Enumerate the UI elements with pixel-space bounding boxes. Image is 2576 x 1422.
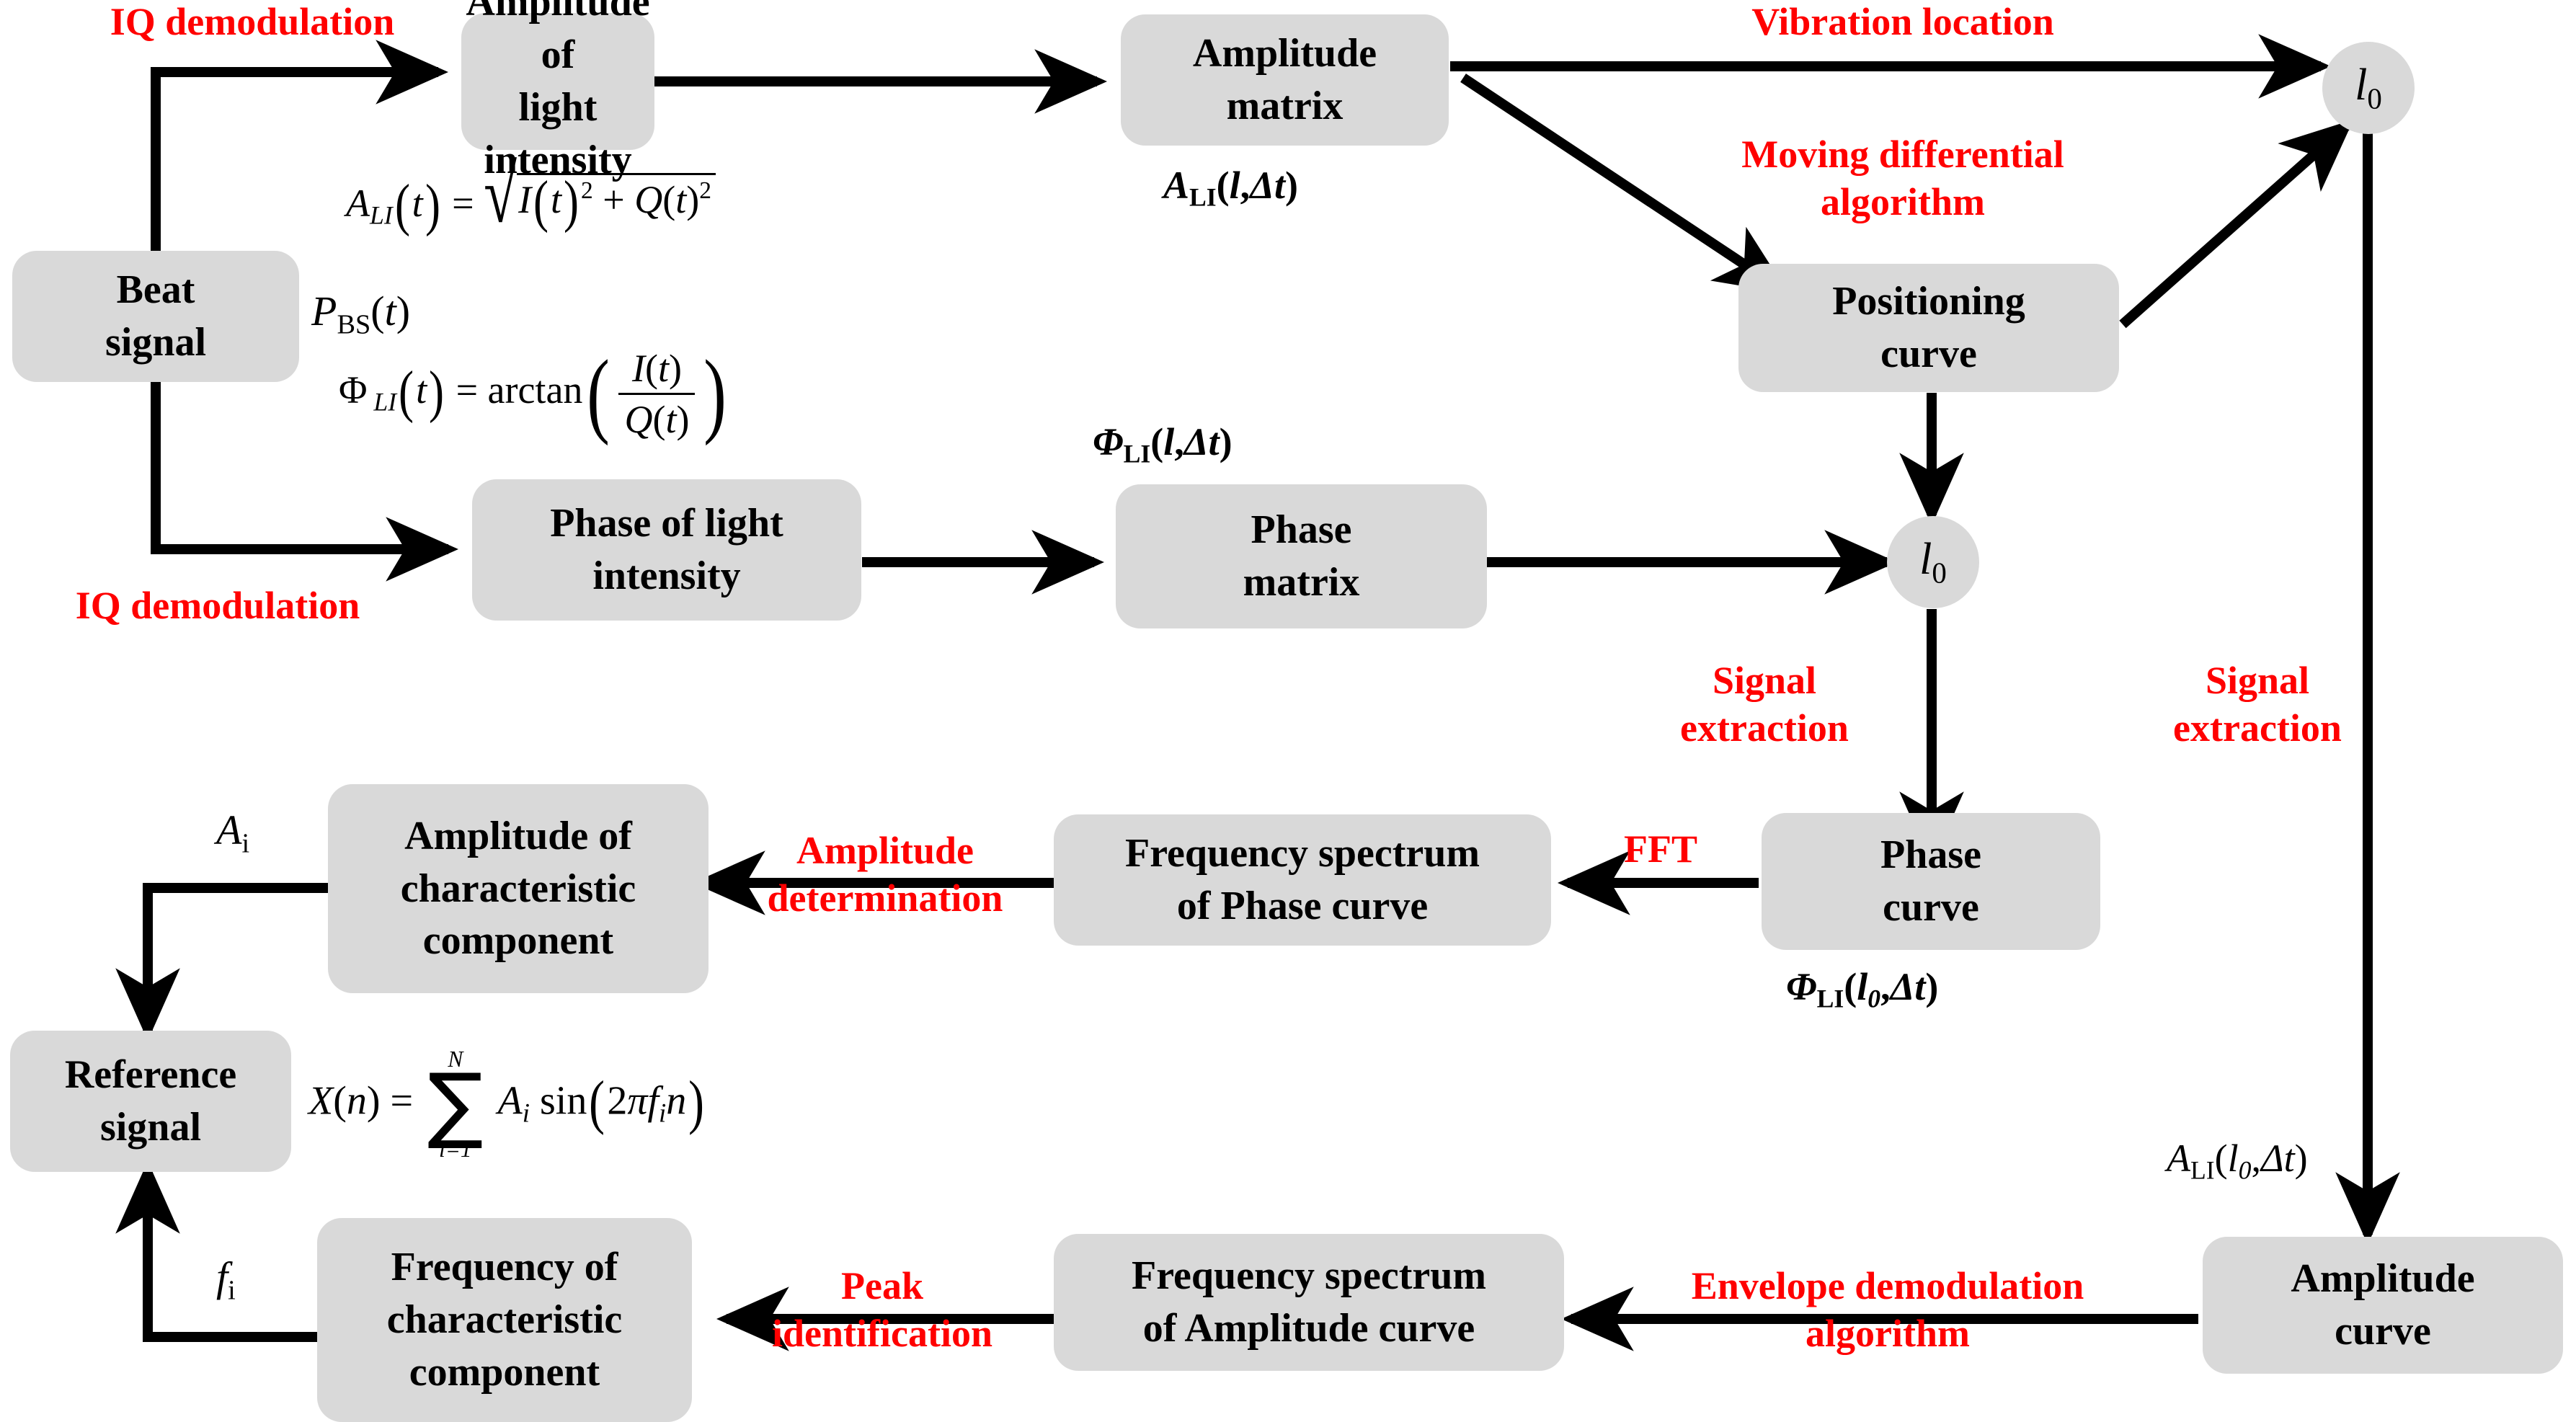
node-amplitude-char-comp[interactable]: Amplitude of characteristic component — [328, 784, 709, 993]
node-label: Amplitude matrix — [1193, 27, 1377, 133]
node-label: Frequency spectrum of Amplitude curve — [1132, 1250, 1486, 1355]
node-label: Amplitude curve — [2291, 1253, 2474, 1358]
node-freq-char-comp[interactable]: Frequency of characteristic component — [317, 1218, 692, 1422]
node-l0-mid[interactable]: l0 — [1887, 516, 1979, 608]
node-beat-signal[interactable]: Beat signal — [12, 251, 299, 382]
label-iq-demod-top: IQ demodulation — [65, 0, 440, 46]
l0-label: l0 — [2355, 60, 2382, 115]
l0-label: l0 — [1919, 534, 1947, 590]
label-signal-extraction-1: Signal extraction — [1649, 657, 1880, 752]
math-a-li-l0-dt: ALI(l0,Δt) — [2167, 1136, 2308, 1186]
label-moving-differential: Moving differential algorithm — [1658, 131, 2148, 226]
label-signal-extraction-2: Signal extraction — [2142, 657, 2373, 752]
node-label: Positioning curve — [1832, 275, 2025, 381]
math-p-bs-t: PBS(t) — [311, 287, 410, 340]
node-l0-top[interactable]: l0 — [2322, 42, 2415, 134]
node-positioning-curve[interactable]: Positioning curve — [1738, 264, 2119, 392]
label-iq-demod-bottom: IQ demodulation — [16, 582, 419, 630]
node-phase-matrix[interactable]: Phase matrix — [1116, 484, 1487, 628]
math-reference-signal-equation: X(n) = N∑i=1 Ai sin(2πfin) — [308, 1046, 706, 1163]
flowchart-canvas: Beat signal Amplitude of light intensity… — [0, 0, 2576, 1422]
node-label: Reference signal — [65, 1049, 236, 1154]
label-vibration-location: Vibration location — [1658, 0, 2148, 46]
node-label: Frequency of characteristic component — [387, 1241, 622, 1398]
label-amplitude-determination: Amplitude determination — [725, 827, 1045, 923]
node-amplitude-matrix[interactable]: Amplitude matrix — [1121, 14, 1449, 146]
node-amplitude-light[interactable]: Amplitude of light intensity — [461, 13, 654, 150]
math-a-li-l-dt: ALI(l,Δt) — [1163, 163, 1298, 213]
node-label: Phase curve — [1880, 829, 1981, 934]
math-phase-equation: Φ LI(t) = arctan(I(t)Q(t)) — [339, 346, 732, 442]
math-a-i: Ai — [216, 806, 249, 859]
node-label: Phase of light intensity — [550, 497, 783, 603]
label-peak-identification: Peak identification — [722, 1263, 1042, 1358]
node-label: Beat signal — [105, 264, 206, 369]
math-phi-li-l0-dt: ΦLI(l0,Δt) — [1786, 964, 1938, 1014]
node-amplitude-curve[interactable]: Amplitude curve — [2203, 1237, 2563, 1374]
node-label: Amplitude of characteristic component — [401, 810, 636, 967]
label-envelope-demodulation: Envelope demodulation algorithm — [1583, 1263, 2193, 1358]
node-freq-spectrum-amp[interactable]: Frequency spectrum of Amplitude curve — [1054, 1234, 1564, 1371]
node-phase-curve[interactable]: Phase curve — [1762, 813, 2100, 950]
node-label: Phase matrix — [1243, 504, 1360, 609]
node-reference-signal[interactable]: Reference signal — [10, 1031, 291, 1172]
label-fft: FFT — [1583, 826, 1738, 874]
math-amplitude-equation: ALI(t) = √I(t)2 + Q(t)2 — [346, 173, 716, 231]
arrow-positioning-to-l0top — [2123, 126, 2346, 324]
node-phase-light[interactable]: Phase of light intensity — [472, 479, 861, 621]
math-f-i: fi — [216, 1253, 236, 1306]
node-freq-spectrum-phase[interactable]: Frequency spectrum of Phase curve — [1054, 814, 1551, 946]
math-phi-li-l-dt: ΦLI(l,Δt) — [1093, 419, 1233, 469]
arrow-ampchar-to-reference — [148, 888, 328, 1031]
node-label: Frequency spectrum of Phase curve — [1125, 827, 1480, 933]
